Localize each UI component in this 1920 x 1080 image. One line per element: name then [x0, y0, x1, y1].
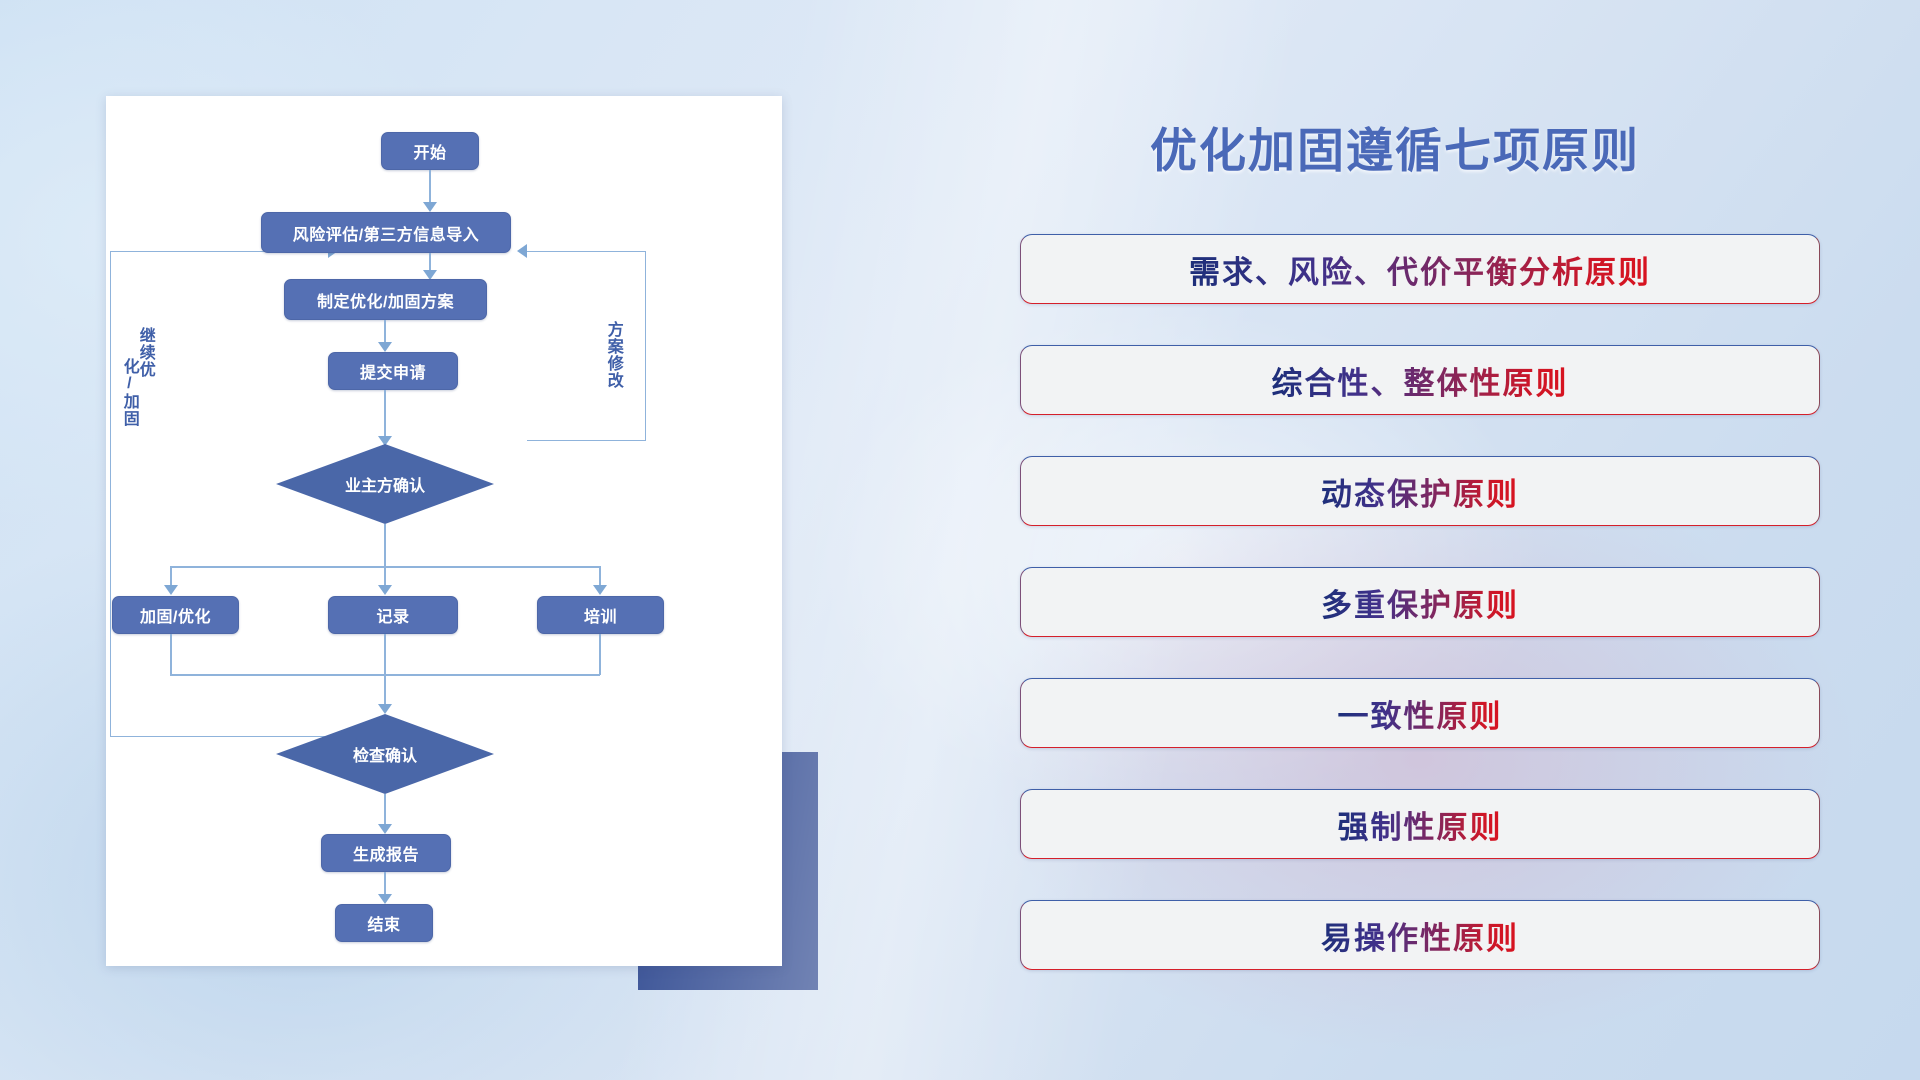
- principle-item-5[interactable]: 一致性原则: [1020, 678, 1820, 748]
- flow-node-start[interactable]: 开始: [381, 132, 479, 170]
- principle-item-1[interactable]: 需求、风险、代价平衡分析原则: [1020, 234, 1820, 304]
- arrowhead-check-to-report: [378, 824, 392, 834]
- arrowhead-start-to-risk: [423, 202, 437, 212]
- flow-node-generate-report-label: 生成报告: [353, 841, 419, 865]
- connector-right-feedback-loop: [527, 251, 646, 441]
- arrowhead-right-feedback: [517, 244, 527, 258]
- principle-item-label: 需求、风险、代价平衡分析原则: [1189, 247, 1651, 292]
- right-pane: 优化加固遵循七项原则 需求、风险、代价平衡分析原则 综合性、整体性原则 动态保护…: [1020, 0, 1860, 1080]
- arrowhead-branch-left: [164, 585, 178, 595]
- flow-node-record[interactable]: 记录: [328, 596, 458, 634]
- principle-item-4[interactable]: 多重保护原则: [1020, 567, 1820, 637]
- flow-side-label-left-col1: 继续优: [136, 327, 153, 477]
- flow-node-risk-assessment[interactable]: 风险评估/第三方信息导入: [261, 212, 511, 253]
- principle-item-7[interactable]: 易操作性原则: [1020, 900, 1820, 970]
- arrowhead-merge-to-check: [378, 704, 392, 714]
- arrowhead-branch-right: [593, 585, 607, 595]
- flow-node-submit-application[interactable]: 提交申请: [328, 352, 458, 390]
- connector-merge-left: [170, 634, 172, 675]
- flow-decision-check-confirm[interactable]: 检查确认: [276, 714, 494, 794]
- arrowhead-branch-mid: [378, 585, 392, 595]
- flow-node-record-label: 记录: [376, 603, 409, 627]
- flow-decision-owner-confirm-label: 业主方确认: [345, 472, 425, 496]
- principle-item-3[interactable]: 动态保护原则: [1020, 456, 1820, 526]
- principle-list: 需求、风险、代价平衡分析原则 综合性、整体性原则 动态保护原则 多重保护原则 一…: [1020, 234, 1820, 1011]
- principle-item-label: 多重保护原则: [1321, 580, 1519, 625]
- principle-item-6[interactable]: 强制性原则: [1020, 789, 1820, 859]
- flow-node-end[interactable]: 结束: [335, 904, 433, 942]
- flow-node-generate-report[interactable]: 生成报告: [321, 834, 451, 872]
- flow-node-training-label: 培训: [584, 603, 617, 627]
- flow-node-start-label: 开始: [413, 139, 446, 163]
- flow-node-reinforce-optimize-label: 加固/优化: [140, 603, 211, 627]
- connector-owner-down: [384, 524, 386, 566]
- arrowhead-report-to-end: [378, 894, 392, 904]
- flow-node-risk-assessment-label: 风险评估/第三方信息导入: [293, 221, 479, 245]
- connector-merge-mid: [384, 634, 386, 675]
- principle-item-2[interactable]: 综合性、整体性原则: [1020, 345, 1820, 415]
- arrowhead-plan-to-submit: [378, 342, 392, 352]
- flow-side-label-right: 方案修改: [604, 321, 621, 389]
- flow-node-end-label: 结束: [367, 911, 400, 935]
- principle-item-label: 易操作性原则: [1321, 913, 1519, 958]
- slide-canvas: 开始 风险评估/第三方信息导入 制定优化/加固方案 提交申请: [0, 0, 1920, 1080]
- principle-item-label: 强制性原则: [1338, 802, 1503, 847]
- flow-node-reinforce-optimize[interactable]: 加固/优化: [112, 596, 239, 634]
- connector-merge-right: [599, 634, 601, 675]
- flow-node-training[interactable]: 培训: [537, 596, 664, 634]
- page-title: 优化加固遵循七项原则: [1150, 112, 1640, 181]
- flow-node-make-plan[interactable]: 制定优化/加固方案: [284, 279, 487, 320]
- flowchart-canvas: 开始 风险评估/第三方信息导入 制定优化/加固方案 提交申请: [106, 96, 782, 966]
- flow-decision-owner-confirm[interactable]: 业主方确认: [276, 444, 494, 524]
- principle-item-label: 一致性原则: [1338, 691, 1503, 736]
- principle-item-label: 综合性、整体性原则: [1272, 358, 1569, 403]
- flow-node-submit-application-label: 提交申请: [360, 359, 426, 383]
- principle-item-label: 动态保护原则: [1321, 469, 1519, 514]
- flowchart-card: 开始 风险评估/第三方信息导入 制定优化/加固方案 提交申请: [106, 96, 782, 966]
- flow-node-make-plan-label: 制定优化/加固方案: [317, 288, 454, 312]
- flow-side-label-left-col2: 化/加固: [120, 358, 137, 508]
- flow-decision-check-confirm-label: 检查确认: [353, 742, 417, 766]
